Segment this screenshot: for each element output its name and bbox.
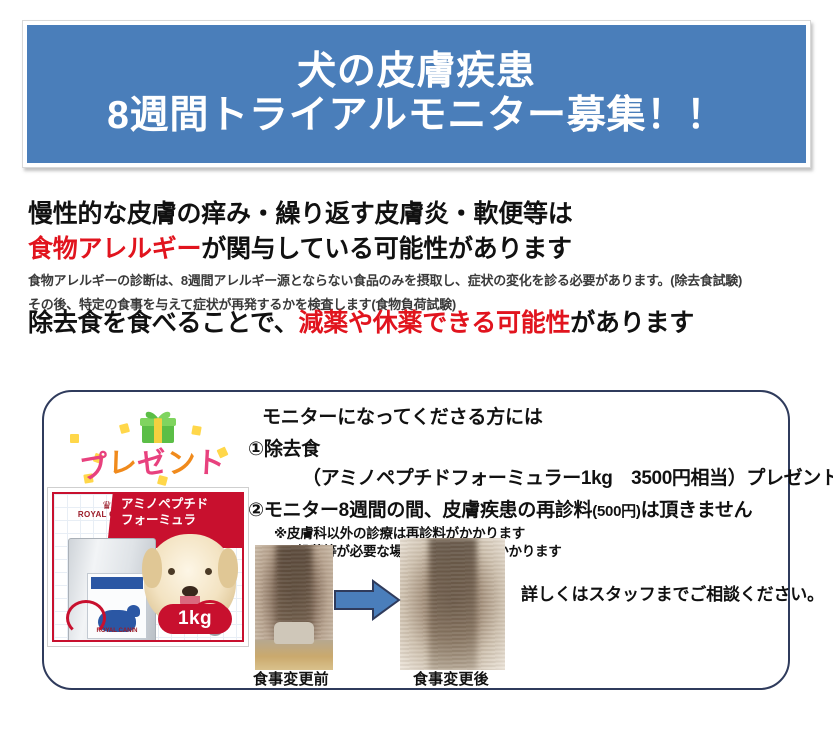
- intro-line-1: 慢性的な皮膚の痒み・繰り返す皮膚炎・軟便等は: [28, 198, 808, 231]
- photo-after: [400, 538, 505, 670]
- offer-item-1-detail: （アミノペプチドフォーミュラー1kg 3500円相当）プレゼント！: [302, 463, 788, 490]
- intro-line-2: 食物アレルギーが関与している可能性があります: [28, 233, 808, 266]
- consult-text: 詳しくはスタッフまでご相談ください。: [521, 580, 824, 605]
- offer-item-1-detail-post: ）プレゼント！: [728, 468, 833, 489]
- present-char: ト: [195, 439, 226, 482]
- present-char: ン: [164, 437, 198, 482]
- dog-skin-after: [400, 538, 505, 670]
- offer-note-1: ※皮膚科以外の診療は再診料がかかります: [274, 525, 788, 543]
- poster-page: 犬の皮膚疾患 8週間トライアルモニター募集！！ 慢性的な皮膚の痒み・繰り返す皮膚…: [0, 0, 833, 733]
- confetti-dot: [119, 423, 130, 434]
- right-arrow-icon: [333, 578, 401, 622]
- intro-block: 慢性的な皮膚の痒み・繰り返す皮膚炎・軟便等は 食物アレルギーが関与している可能性…: [28, 198, 808, 315]
- photo-before: [255, 545, 333, 670]
- offer-item-2-marker: ②: [248, 500, 264, 521]
- product-image: ♛ ROYAL CANIN アミノペプチド フォーミュラ ROYAL CANIN: [47, 487, 249, 647]
- offer-item-1: ①除去食: [248, 434, 788, 461]
- weight-badge: 1kg: [158, 604, 232, 634]
- intro-line-2-highlight: 食物アレルギー: [28, 235, 201, 263]
- present-headline-art: プレゼント: [62, 408, 242, 486]
- offer-item-2: ②モニター8週間の間、皮膚疾患の再診料(500円)は頂きません: [248, 495, 788, 522]
- present-text: プレゼント: [61, 437, 242, 485]
- bag-label-band: [91, 577, 143, 589]
- photo-object: [274, 622, 315, 644]
- offer-heading: モニターになってくださる方には: [262, 402, 788, 429]
- intro-line-2-rest: が関与している可能性があります: [201, 235, 572, 263]
- stethoscope-tube: [66, 600, 106, 636]
- fineprint-line-1: 食物アレルギーの診断は、8週間アレルギー源とならない食品のみを摂取し、症状の変化…: [28, 272, 808, 290]
- dog-ear: [142, 548, 162, 588]
- claim-post: があります: [570, 309, 694, 337]
- product-image-inner: ♛ ROYAL CANIN アミノペプチド フォーミュラ ROYAL CANIN: [52, 492, 244, 642]
- offer-item-1-price: 3500円相当: [631, 468, 728, 489]
- offer-note-2: ※投薬等が必要な場合は別途費用がかかります: [284, 543, 788, 561]
- present-char: レ: [107, 440, 138, 483]
- offer-item-2-fee: (500円): [592, 503, 640, 520]
- claim-pre: 除去食を食べることで、: [28, 309, 299, 337]
- offer-item-2-pre: モニター8週間の間、皮膚疾患の再診料: [264, 500, 592, 521]
- dog-eye: [205, 568, 212, 575]
- offer-notes: ※皮膚科以外の診療は再診料がかかります ※投薬等が必要な場合は別途費用がかかりま…: [274, 525, 788, 561]
- product-banner-text: アミノペプチド フォーミュラ: [111, 492, 244, 528]
- product-banner-line2: フォーミュラ: [121, 513, 244, 529]
- dog-eye: [168, 568, 175, 575]
- confetti-dot: [191, 425, 201, 435]
- claim-line: 除去食を食べることで、減薬や休薬できる可能性があります: [28, 308, 694, 338]
- banner-title-line1: 犬の皮膚疾患: [297, 51, 536, 93]
- claim-highlight: 減薬や休薬できる可能性: [299, 309, 571, 337]
- product-banner-line1: アミノペプチド: [121, 497, 244, 513]
- offer-item-2-post: は頂きません: [641, 500, 753, 521]
- banner-title-line2: 8週間トライアルモニター募集！！: [107, 95, 726, 137]
- header-banner: 犬の皮膚疾患 8週間トライアルモニター募集！！: [27, 25, 806, 163]
- offer-item-1-marker: ①: [248, 439, 264, 460]
- offer-text-block: モニターになってくださる方には ①除去食 （アミノペプチドフォーミュラー1kg …: [248, 402, 788, 561]
- present-char: ゼ: [135, 439, 169, 484]
- caption-after: 食事変更後: [413, 668, 489, 689]
- photo-floor: [255, 640, 333, 670]
- offer-item-1-detail-pre: （アミノペプチドフォーミュラー1kg: [302, 468, 631, 489]
- caption-before: 食事変更前: [253, 668, 329, 689]
- dog-ear: [218, 548, 238, 588]
- offer-item-1-label: 除去食: [264, 439, 320, 460]
